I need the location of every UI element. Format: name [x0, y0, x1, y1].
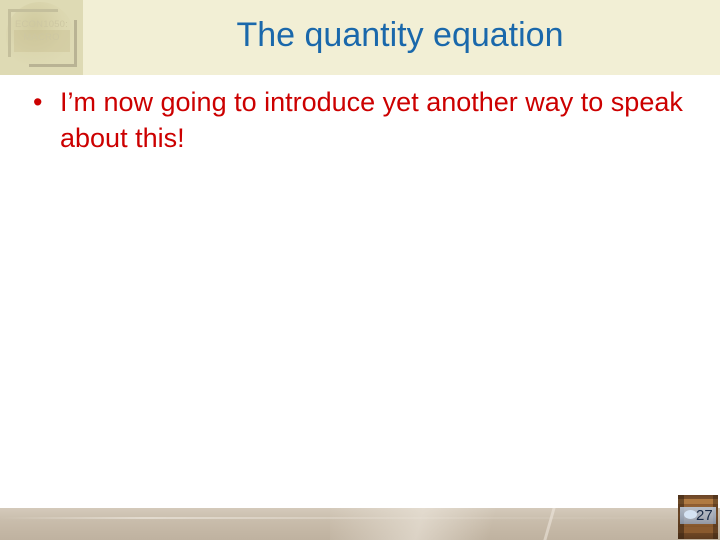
page-number: 27	[696, 507, 718, 525]
footer-band-seam	[543, 508, 555, 540]
slide-title: The quantity equation	[90, 14, 710, 56]
slide-footer-band	[0, 508, 720, 540]
presentation-slide: ECON1050: MACRO The quantity equation • …	[0, 0, 720, 540]
page-number-thumbnail: 27	[678, 495, 718, 539]
course-logo-line1: ECON1050:	[0, 19, 83, 32]
bullet-list-item: • I’m now going to introduce yet another…	[28, 84, 684, 156]
course-logo-block: ECON1050: MACRO	[0, 0, 83, 75]
bullet-text: I’m now going to introduce yet another w…	[60, 84, 684, 156]
footer-band-highlight-b	[330, 508, 530, 540]
bracket-top-left-horizontal-icon	[8, 9, 58, 12]
slide-body: • I’m now going to introduce yet another…	[28, 84, 684, 156]
thumbnail-shelf-bottom-icon	[678, 527, 718, 533]
bullet-marker-icon: •	[28, 84, 60, 120]
course-logo-line2: MACRO	[0, 32, 83, 45]
thumbnail-shelf-top-icon	[678, 499, 718, 504]
course-logo-text: ECON1050: MACRO	[0, 19, 83, 44]
bracket-bottom-right-horizontal-icon	[29, 64, 77, 67]
